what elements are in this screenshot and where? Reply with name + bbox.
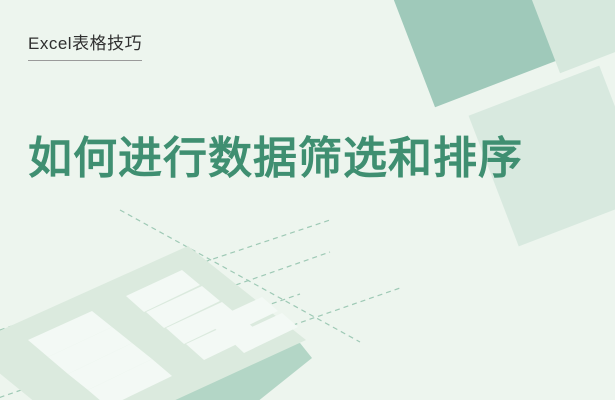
sheet-row (48, 327, 132, 374)
sheet-edge-shadow (22, 343, 312, 400)
cover-card: Excel表格技巧 如何进行数据筛选和排序 (0, 0, 615, 400)
guide-line-3 (0, 252, 330, 392)
sheet-row (228, 313, 298, 353)
guide-line-2 (120, 210, 360, 342)
sheet-row (126, 270, 200, 312)
sheet-row (68, 343, 152, 390)
page-title: 如何进行数据筛选和排序 (28, 130, 528, 188)
square-pale-corner-shape (518, 0, 615, 73)
guide-line-5 (0, 294, 300, 400)
guide-lines-group (0, 210, 400, 400)
subtitle-text: Excel表格技巧 (28, 33, 142, 56)
sheet-row (146, 286, 220, 328)
sheet-surface (0, 246, 306, 400)
isometric-spreadsheet-illustration (0, 230, 400, 400)
subtitle-block: Excel表格技巧 (28, 33, 142, 61)
sheet-row (28, 311, 112, 357)
sheet-row (186, 318, 260, 360)
sheet-row (208, 297, 278, 337)
guide-line-1 (0, 220, 330, 350)
decorative-squares-group (385, 0, 615, 230)
square-large-teal-shape (388, 0, 559, 107)
sheet-rows-right-column (126, 270, 260, 360)
subtitle-underline (28, 60, 142, 61)
sheet-rows-far-column (208, 297, 298, 353)
guide-line-4 (250, 288, 400, 340)
sheet-row (88, 359, 172, 400)
sheet-row (166, 302, 240, 344)
sheet-rows-left-column (28, 311, 172, 400)
